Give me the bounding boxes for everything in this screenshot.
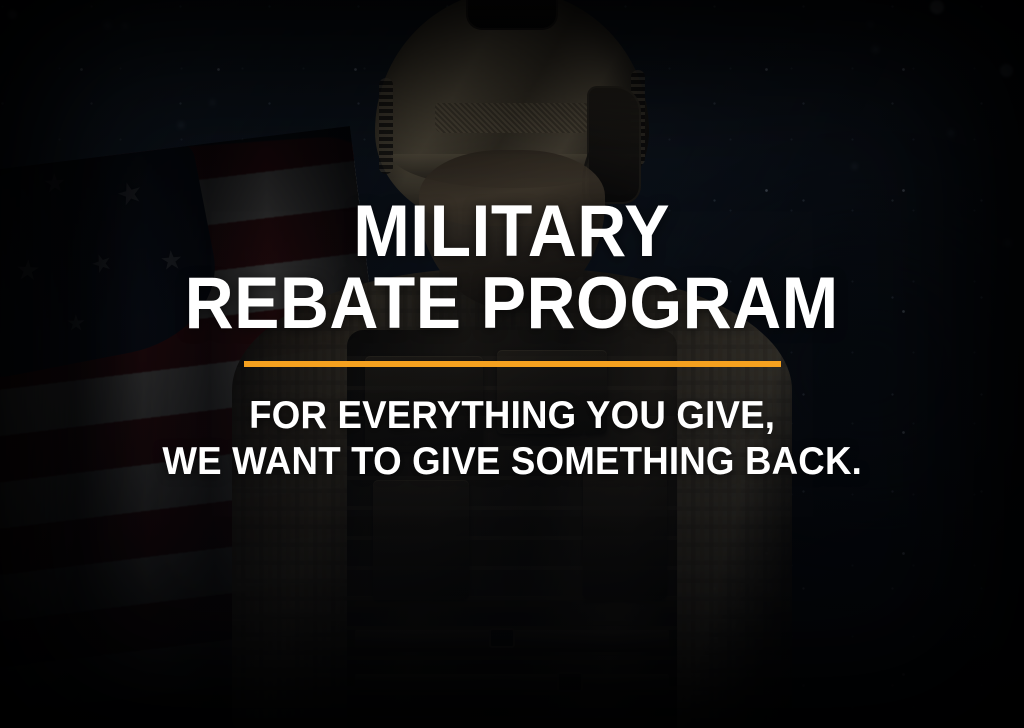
banner-subtitle: FOR EVERYTHING YOU GIVE, WE WANT TO GIVE… bbox=[162, 393, 862, 485]
military-rebate-banner: ★ ★ ★ ★ ★ ★ ★ ★ bbox=[0, 0, 1024, 728]
orange-divider bbox=[244, 361, 781, 367]
page-title: MILITARY REBATE PROGRAM bbox=[185, 196, 839, 341]
banner-content: MILITARY REBATE PROGRAM FOR EVERYTHING Y… bbox=[0, 0, 1024, 728]
